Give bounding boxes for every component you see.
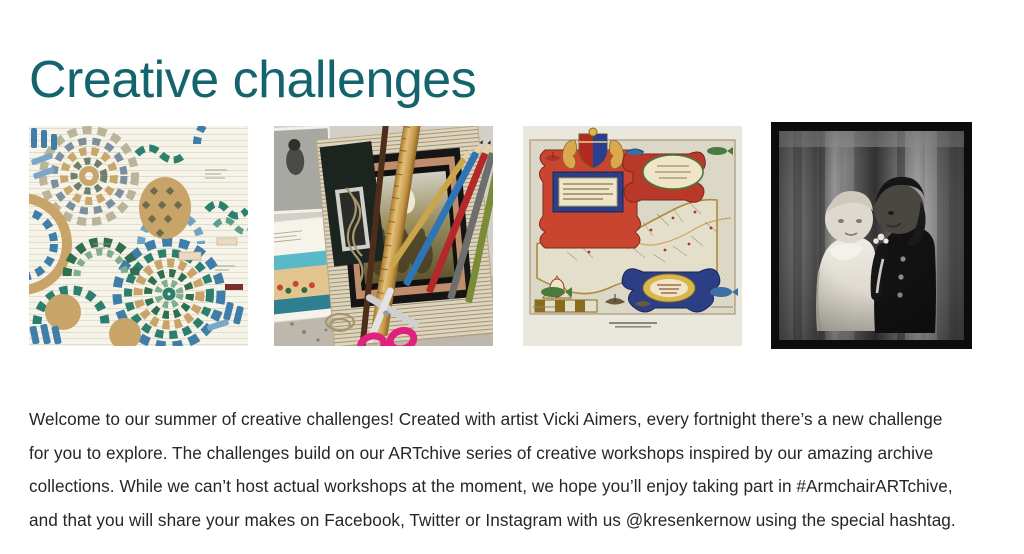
gallery-image-paper-collage-artwork[interactable]	[29, 126, 248, 346]
page-title: Creative challenges	[29, 49, 476, 111]
antique-map-illustration	[523, 126, 742, 346]
collage-vector	[29, 126, 248, 346]
craft-flatlay-illustration	[274, 126, 493, 346]
photo-vignette	[779, 131, 964, 340]
paper-collage-artwork-illustration	[29, 126, 248, 346]
gallery-image-vintage-glass-plate-portrait[interactable]	[771, 122, 972, 349]
gallery-image-craft-flatlay-photo[interactable]	[274, 126, 493, 346]
plate-photo-area	[779, 131, 964, 340]
gallery-image-antique-map-of-cornwall[interactable]	[523, 126, 742, 346]
flatlay-vector	[274, 126, 493, 346]
image-gallery	[0, 120, 1024, 352]
vintage-plate-illustration	[771, 122, 972, 349]
antique-map-vector	[523, 126, 742, 346]
creative-challenges-page: Creative challenges	[0, 0, 1024, 554]
intro-paragraph: Welcome to our summer of creative challe…	[29, 403, 959, 537]
